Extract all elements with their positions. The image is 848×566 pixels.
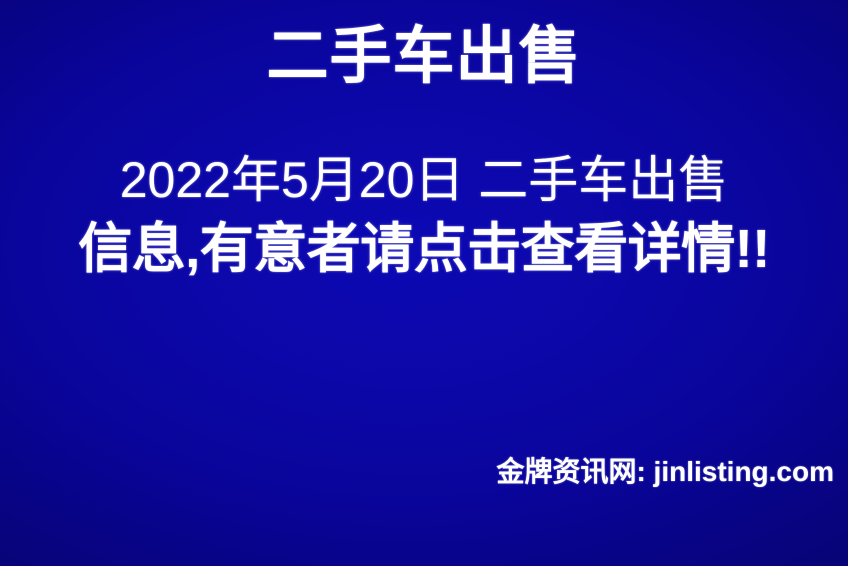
poster-title-text: 二手车出售: [266, 26, 581, 88]
poster-body-line-1: 2022年5月20日 二手车出售: [0, 148, 848, 213]
poster-footer: 金牌资讯网: jinlisting.com: [496, 456, 834, 488]
watermark-site-credit: 金牌资讯网: jinlisting.com: [496, 456, 834, 488]
poster-title: 二手车出售: [0, 26, 848, 88]
used-car-sale-poster: 二手车出售 2022年5月20日 二手车出售 信息,有意者请点击查看详情!! 金…: [0, 0, 848, 566]
poster-body-line-2: 信息,有意者请点击查看详情!!: [0, 215, 848, 283]
poster-body: 2022年5月20日 二手车出售 信息,有意者请点击查看详情!!: [0, 148, 848, 283]
